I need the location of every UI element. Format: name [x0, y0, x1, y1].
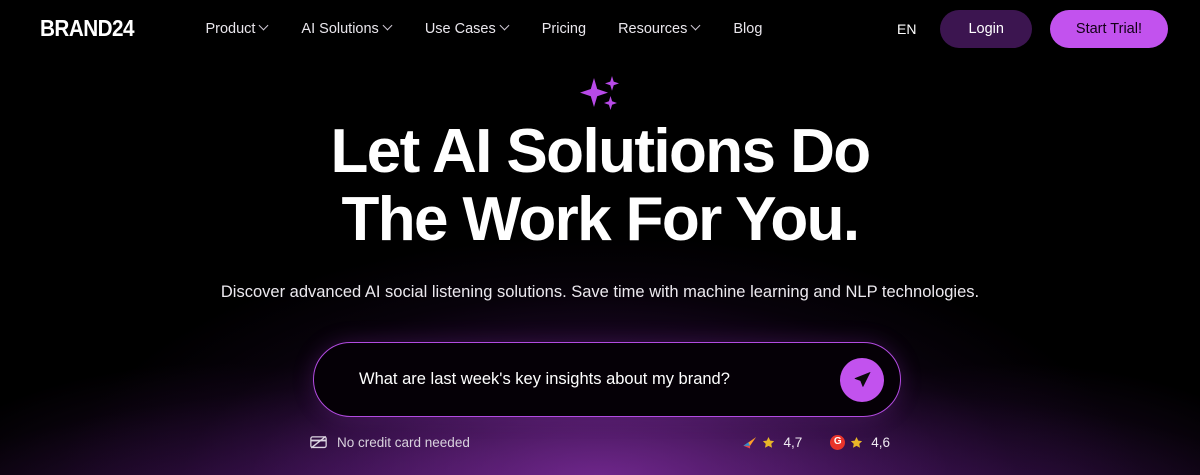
- chevron-down-icon: [501, 22, 510, 31]
- nav-item-label: Use Cases: [425, 21, 496, 37]
- chevron-down-icon: [384, 22, 393, 31]
- nav-item-blog[interactable]: Blog: [717, 21, 778, 37]
- nav-item-ai-solutions[interactable]: AI Solutions: [285, 21, 408, 37]
- no-credit-card-label: No credit card needed: [337, 435, 470, 450]
- nav-item-label: Pricing: [542, 21, 586, 37]
- nav-item-pricing[interactable]: Pricing: [526, 21, 602, 37]
- credit-card-off-icon: [310, 435, 327, 449]
- nav-item-use-cases[interactable]: Use Cases: [409, 21, 526, 37]
- rating-g2[interactable]: G 4,6: [830, 435, 890, 450]
- main-nav: Product AI Solutions Use Cases Pricing R…: [189, 21, 778, 37]
- nav-item-label: Product: [205, 21, 255, 37]
- prompt-input-box[interactable]: [313, 342, 901, 417]
- start-trial-button[interactable]: Start Trial!: [1050, 10, 1168, 48]
- ratings-group: 4,7 G 4,6: [742, 435, 890, 450]
- capterra-icon: [742, 435, 757, 450]
- header-actions: EN Login Start Trial!: [883, 10, 1168, 48]
- footnote-row: No credit card needed 4,7 G 4,6: [310, 430, 890, 454]
- nav-item-product[interactable]: Product: [189, 21, 285, 37]
- hero-subtitle: Discover advanced AI social listening so…: [0, 283, 1200, 302]
- rating-score: 4,6: [871, 435, 890, 450]
- g2-letter: G: [834, 437, 842, 447]
- rating-score: 4,7: [783, 435, 802, 450]
- no-credit-card-note: No credit card needed: [310, 435, 470, 450]
- hero-title-line1: Let AI Solutions Do: [330, 117, 869, 186]
- login-button[interactable]: Login: [940, 10, 1031, 48]
- nav-item-label: Blog: [733, 21, 762, 37]
- rating-capterra[interactable]: 4,7: [742, 435, 802, 450]
- nav-item-resources[interactable]: Resources: [602, 21, 717, 37]
- send-button[interactable]: [840, 358, 884, 402]
- star-icon: [850, 436, 863, 449]
- language-switcher[interactable]: EN: [883, 21, 930, 37]
- brand-logo[interactable]: BRAND24: [40, 15, 134, 42]
- prompt-input[interactable]: [359, 370, 840, 389]
- nav-item-label: AI Solutions: [301, 21, 378, 37]
- nav-item-label: Resources: [618, 21, 687, 37]
- hero-section: Let AI Solutions Do The Work For You. Di…: [0, 0, 1200, 475]
- g2-icon: G: [830, 435, 845, 450]
- site-header: BRAND24 Product AI Solutions Use Cases P…: [0, 0, 1200, 57]
- chevron-down-icon: [260, 22, 269, 31]
- sparkles-icon: [0, 74, 1200, 114]
- send-plane-icon: [853, 370, 872, 389]
- hero-title-line2: The Work For You.: [341, 185, 858, 254]
- page-title: Let AI Solutions Do The Work For You.: [0, 118, 1200, 254]
- star-icon: [762, 436, 775, 449]
- chevron-down-icon: [692, 22, 701, 31]
